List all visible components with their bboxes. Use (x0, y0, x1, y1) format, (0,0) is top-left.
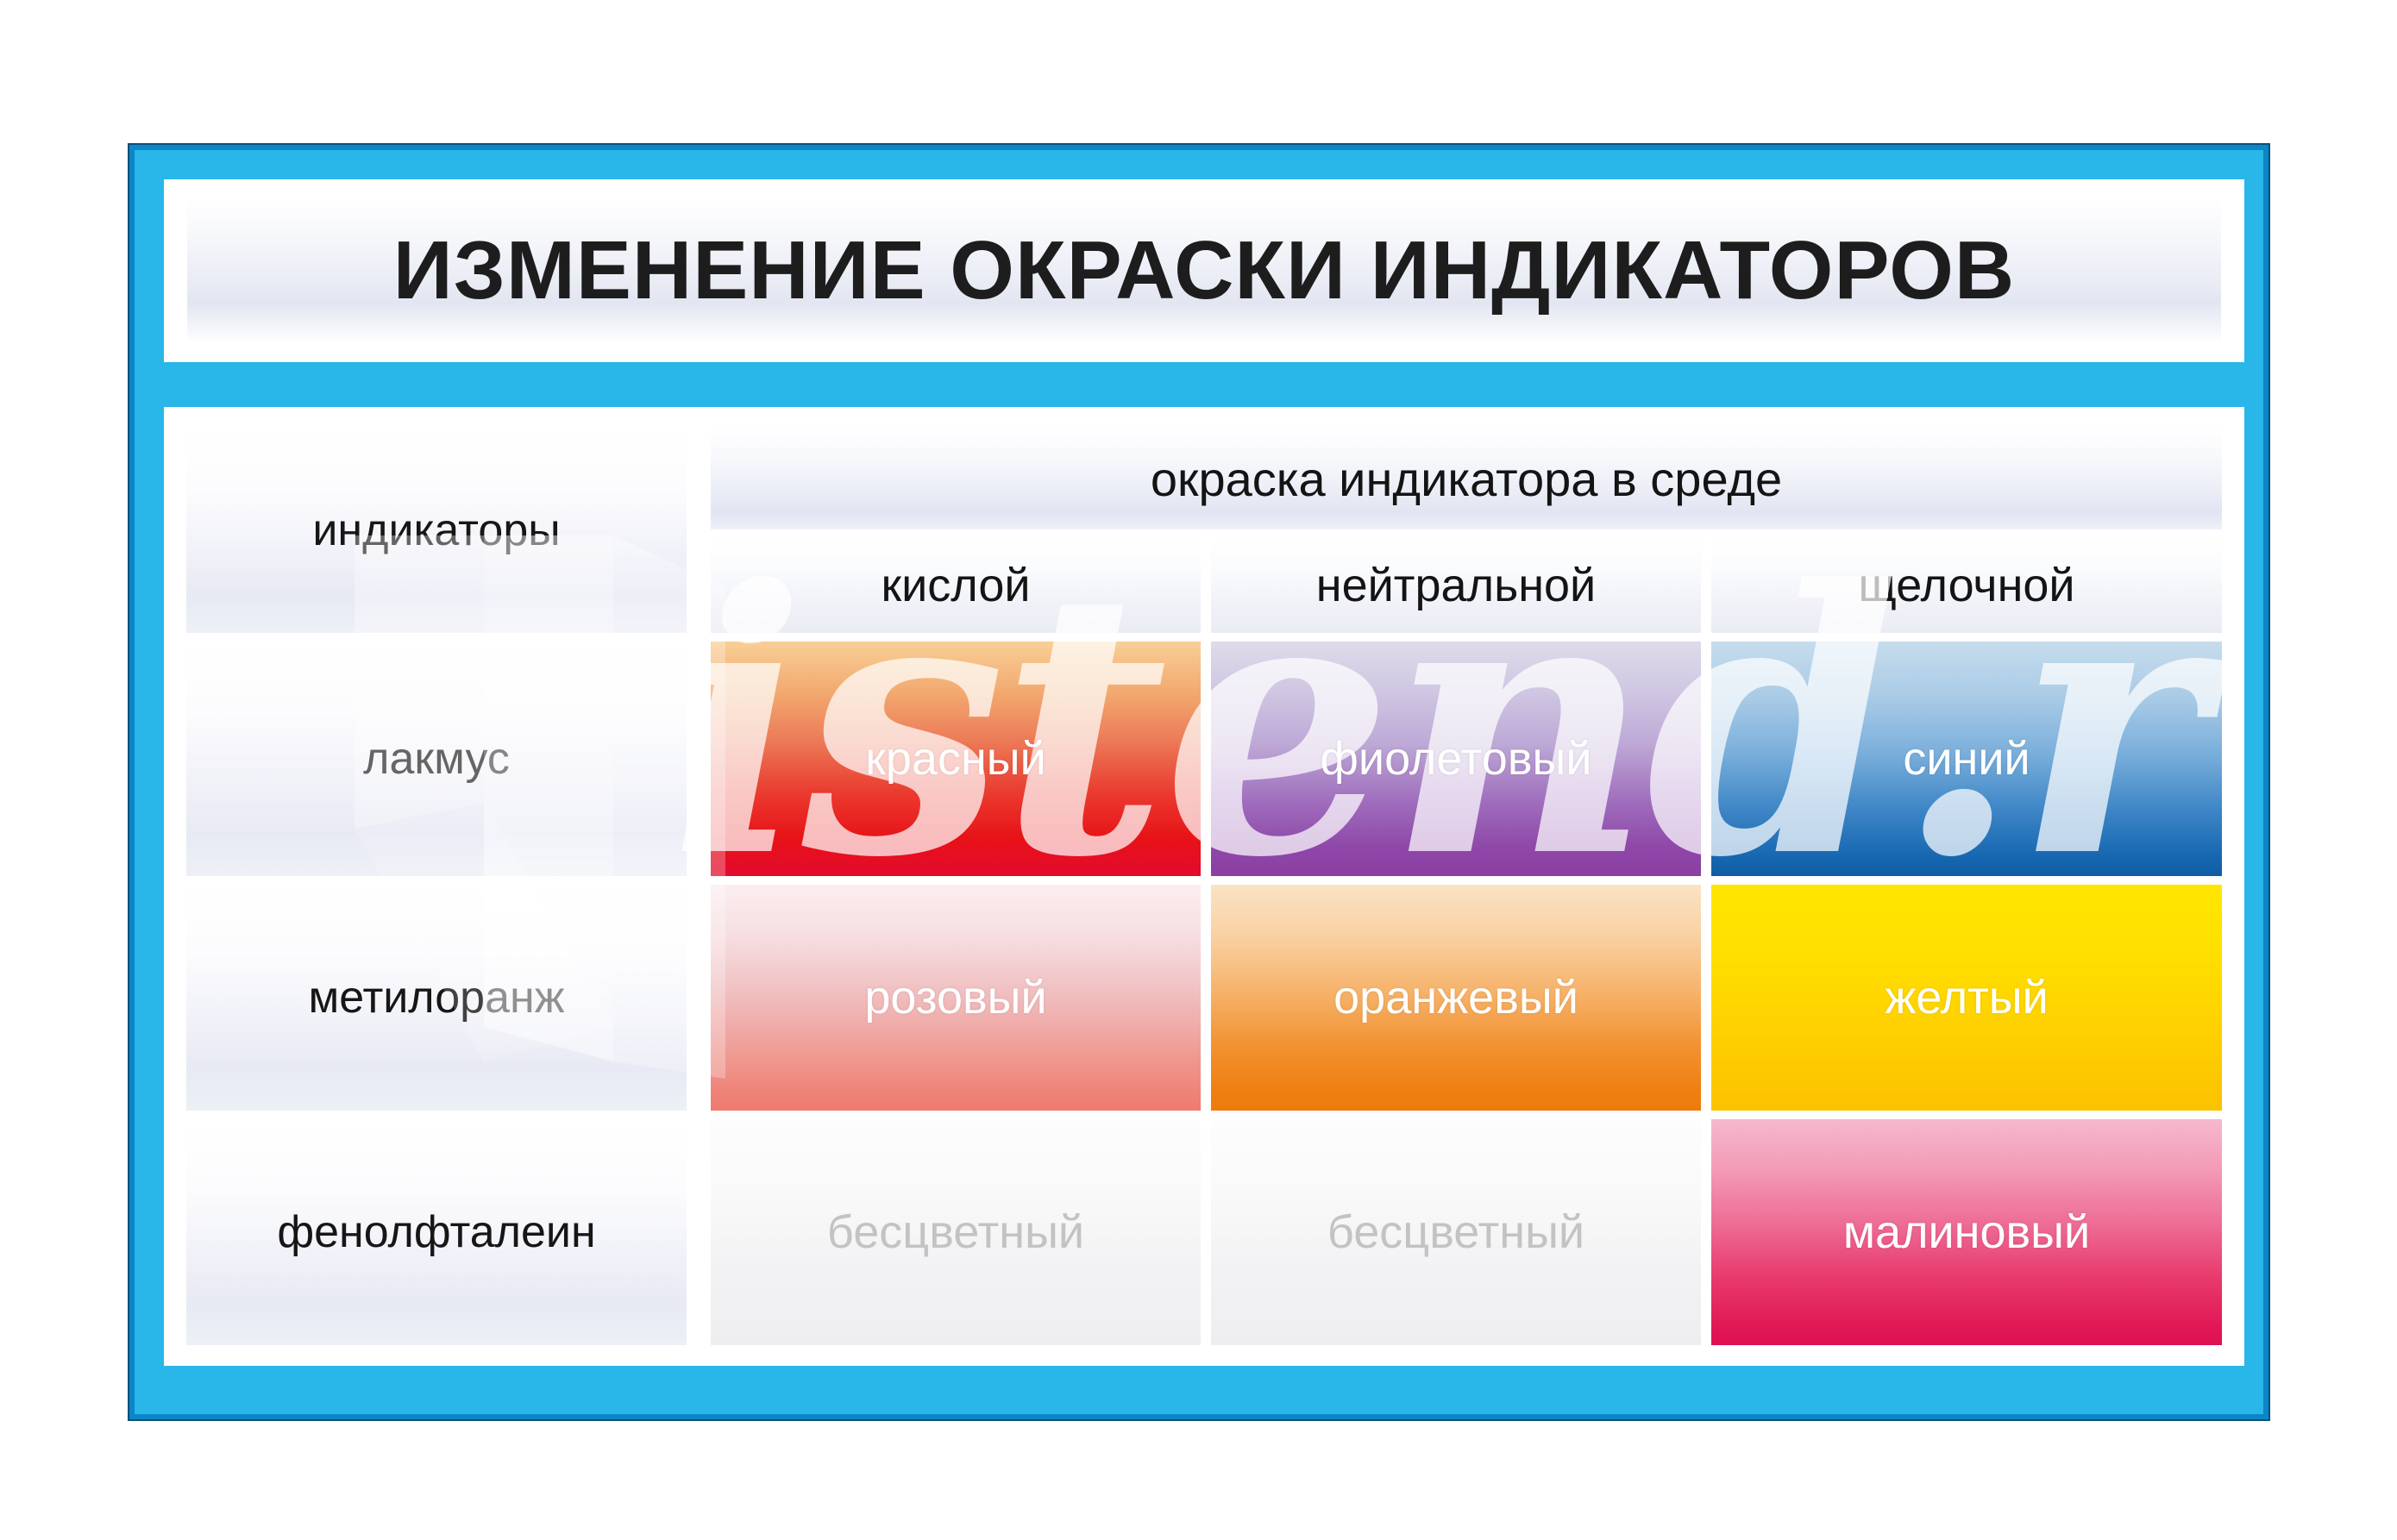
indicator-name-phenolphthalein: фенолфталеин (277, 1206, 595, 1258)
cell-methyl-orange-acid: розовый (711, 885, 1201, 1111)
indicator-name-litmus: лакмус (363, 733, 510, 785)
page-title: ИЗМЕНЕНИЕ ОКРАСКИ ИНДИКАТОРОВ (393, 229, 2015, 312)
cell-methyl-orange-alkali: желтый (1711, 885, 2222, 1111)
cell-methyl-orange-acid-label: розовый (864, 971, 1046, 1024)
table-row: лакмус (186, 642, 687, 876)
column-header-alkali-label: щелочной (1858, 559, 2074, 612)
table-row: метилоранж (186, 885, 687, 1111)
corner-header-label: индикаторы (312, 504, 560, 556)
cell-phenolphthalein-neutral-label: бесцветный (1327, 1205, 1584, 1259)
cell-phenolphthalein-acid: бесцветный (711, 1119, 1201, 1345)
cell-phenolphthalein-acid-label: бесцветный (827, 1205, 1084, 1259)
cell-litmus-neutral: фиолетовый (1211, 642, 1701, 876)
column-header-acid: кислой (711, 538, 1201, 633)
cell-litmus-alkali: синий (1711, 642, 2222, 876)
cell-litmus-alkali-label: синий (1903, 732, 2030, 786)
cell-phenolphthalein-alkali-label: малиновый (1843, 1205, 2090, 1259)
title-panel: ИЗМЕНЕНИЕ ОКРАСКИ ИНДИКАТОРОВ (164, 179, 2244, 362)
indicator-name-methyl-orange: метилоранж (309, 972, 565, 1024)
cell-litmus-acid: красный (711, 642, 1201, 876)
indicator-table: istend.ru индикаторы окраска индикатора … (186, 428, 2222, 1347)
table-row: фенолфталеин (186, 1119, 687, 1345)
cell-methyl-orange-alkali-label: желтый (1885, 971, 2049, 1024)
table-corner-header: индикаторы (186, 428, 687, 633)
column-header-alkali: щелочной (1711, 538, 2222, 633)
column-header-neutral-label: нейтральной (1316, 559, 1596, 612)
cell-methyl-orange-neutral-label: оранжевый (1333, 971, 1578, 1024)
cell-litmus-neutral-label: фиолетовый (1320, 732, 1591, 786)
cell-methyl-orange-neutral: оранжевый (1211, 885, 1701, 1111)
merged-header-label: окраска индикатора в среде (1151, 451, 1782, 507)
cell-phenolphthalein-alkali: малиновый (1711, 1119, 2222, 1345)
indicator-table-panel: istend.ru индикаторы окраска индикатора … (164, 407, 2244, 1366)
cell-phenolphthalein-neutral: бесцветный (1211, 1119, 1701, 1345)
cell-litmus-acid-label: красный (865, 732, 1046, 786)
column-header-neutral: нейтральной (1211, 538, 1701, 633)
merged-column-header: окраска индикатора в среде (711, 428, 2222, 529)
column-header-acid-label: кислой (881, 559, 1030, 612)
information-stand-frame: ИЗМЕНЕНИЕ ОКРАСКИ ИНДИКАТОРОВ istend.ru … (129, 145, 2268, 1419)
title-plate: ИЗМЕНЕНИЕ ОКРАСКИ ИНДИКАТОРОВ (187, 197, 2221, 344)
